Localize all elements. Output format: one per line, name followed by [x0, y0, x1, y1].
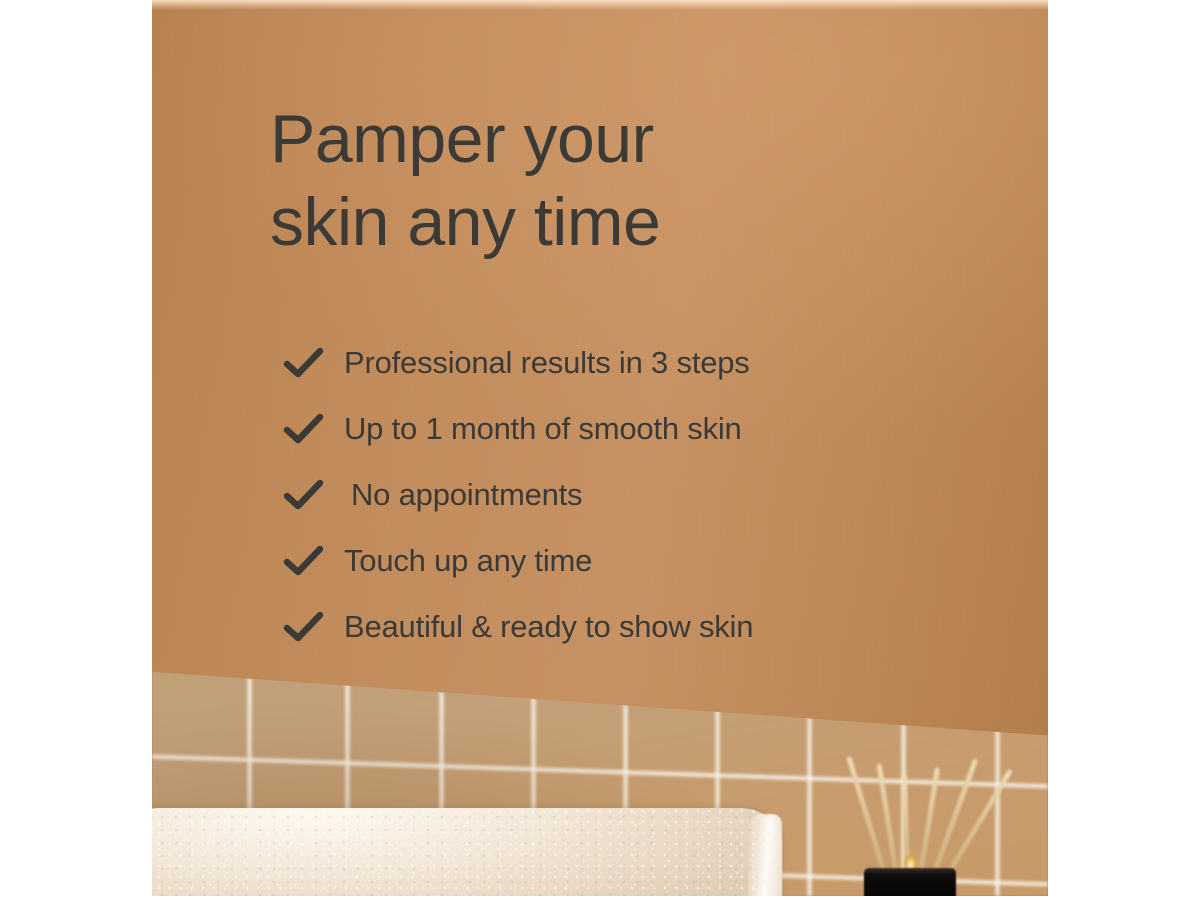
page-title: Pamper your skin any time [270, 98, 660, 264]
checkmark-icon [282, 412, 326, 446]
feature-label: No appointments [344, 477, 582, 513]
feature-list: Professional results in 3 steps Up to 1 … [282, 330, 1002, 660]
page-root: Pamper your skin any time Professional r… [0, 0, 1200, 900]
hero-image-panel: Pamper your skin any time Professional r… [152, 0, 1048, 896]
list-item: No appointments [282, 462, 1002, 528]
list-item: Professional results in 3 steps [282, 330, 1002, 396]
list-item: Beautiful & ready to show skin [282, 594, 1002, 660]
feature-label: Touch up any time [344, 543, 592, 579]
feature-label: Beautiful & ready to show skin [344, 609, 753, 645]
feature-label: Up to 1 month of smooth skin [344, 411, 742, 447]
feature-label: Professional results in 3 steps [344, 345, 750, 381]
text-overlay: Pamper your skin any time Professional r… [152, 0, 1048, 896]
list-item: Up to 1 month of smooth skin [282, 396, 1002, 462]
checkmark-icon [282, 478, 326, 512]
checkmark-icon [282, 610, 326, 644]
checkmark-icon [282, 346, 326, 380]
list-item: Touch up any time [282, 528, 1002, 594]
checkmark-icon [282, 544, 326, 578]
